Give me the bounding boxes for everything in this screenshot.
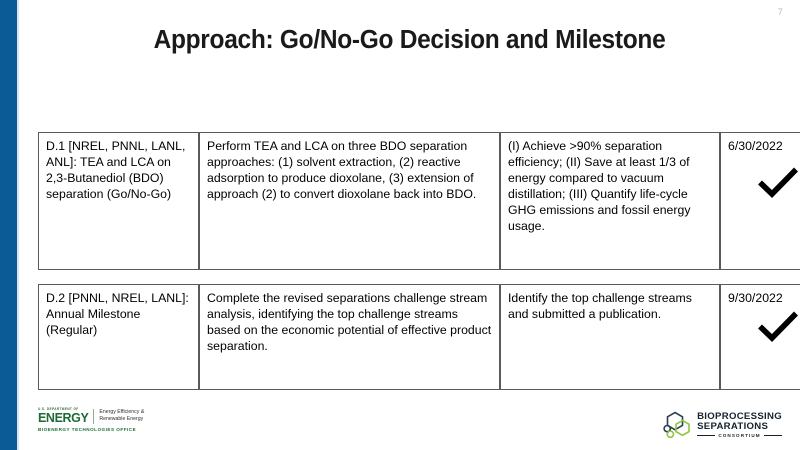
- doe-program-line-2: Renewable Energy: [99, 416, 144, 424]
- consortium-word: CONSORTIUM: [715, 434, 763, 439]
- cell-date-status: 6/30/2022: [720, 132, 800, 270]
- doe-logo: U.S. DEPARTMENT OF ENERGY Energy Efficie…: [38, 408, 188, 440]
- doe-wordmark: U.S. DEPARTMENT OF ENERGY: [38, 408, 93, 425]
- checkmark-icon: [728, 311, 800, 347]
- table-row: D.2 [PNNL, NREL, LANL]: Annual Milestone…: [38, 284, 800, 390]
- cell-milestone-id: D.2 [PNNL, NREL, LANL]: Annual Milestone…: [38, 284, 199, 390]
- cell-milestone-id: D.1 [NREL, PNNL, LANL, ANL]: TEA and LCA…: [38, 132, 199, 270]
- page-number: 7: [778, 7, 783, 17]
- cell-date-status: 9/30/2022: [720, 284, 800, 390]
- doe-energy-word: ENERGY: [38, 412, 88, 425]
- slide: 7 Approach: Go/No-Go Decision and Milest…: [0, 0, 800, 450]
- accent-bar: [0, 0, 17, 450]
- rule-right: [764, 435, 782, 436]
- cell-description: Perform TEA and LCA on three BDO separat…: [199, 132, 500, 270]
- consortium-line-3: CONSORTIUM: [697, 434, 782, 439]
- milestone-table-wrapper: D.1 [NREL, PNNL, LANL, ANL]: TEA and LCA…: [38, 118, 772, 404]
- due-date: 6/30/2022: [728, 139, 800, 155]
- doe-program-line-1: Energy Efficiency &: [99, 409, 144, 417]
- rule-left: [697, 435, 715, 436]
- milestone-table: D.1 [NREL, PNNL, LANL, ANL]: TEA and LCA…: [38, 118, 800, 404]
- table-row: D.1 [NREL, PNNL, LANL, ANL]: TEA and LCA…: [38, 132, 800, 270]
- cell-description: Complete the revised separations challen…: [199, 284, 500, 390]
- cell-criteria: Identify the top challenge streams and s…: [500, 284, 720, 390]
- cell-criteria: (I) Achieve >90% separation efficiency; …: [500, 132, 720, 270]
- page-title: Approach: Go/No-Go Decision and Mileston…: [35, 26, 785, 55]
- doe-divider: [93, 409, 94, 424]
- due-date: 9/30/2022: [728, 291, 800, 307]
- consortium-logo: BIOPROCESSING SEPARATIONS CONSORTIUM: [662, 411, 782, 439]
- doe-program-name: Energy Efficiency & Renewable Energy: [99, 409, 144, 424]
- consortium-line-2: SEPARATIONS: [697, 422, 782, 432]
- doe-logo-row: U.S. DEPARTMENT OF ENERGY Energy Efficie…: [38, 408, 188, 425]
- checkmark-icon: [728, 167, 800, 203]
- consortium-wordmark: BIOPROCESSING SEPARATIONS CONSORTIUM: [697, 412, 782, 438]
- doe-office-label: BIOENERGY TECHNOLOGIES OFFICE: [38, 427, 188, 432]
- molecule-hexagons-icon: [662, 411, 692, 439]
- accent-bar-edge: [17, 0, 19, 450]
